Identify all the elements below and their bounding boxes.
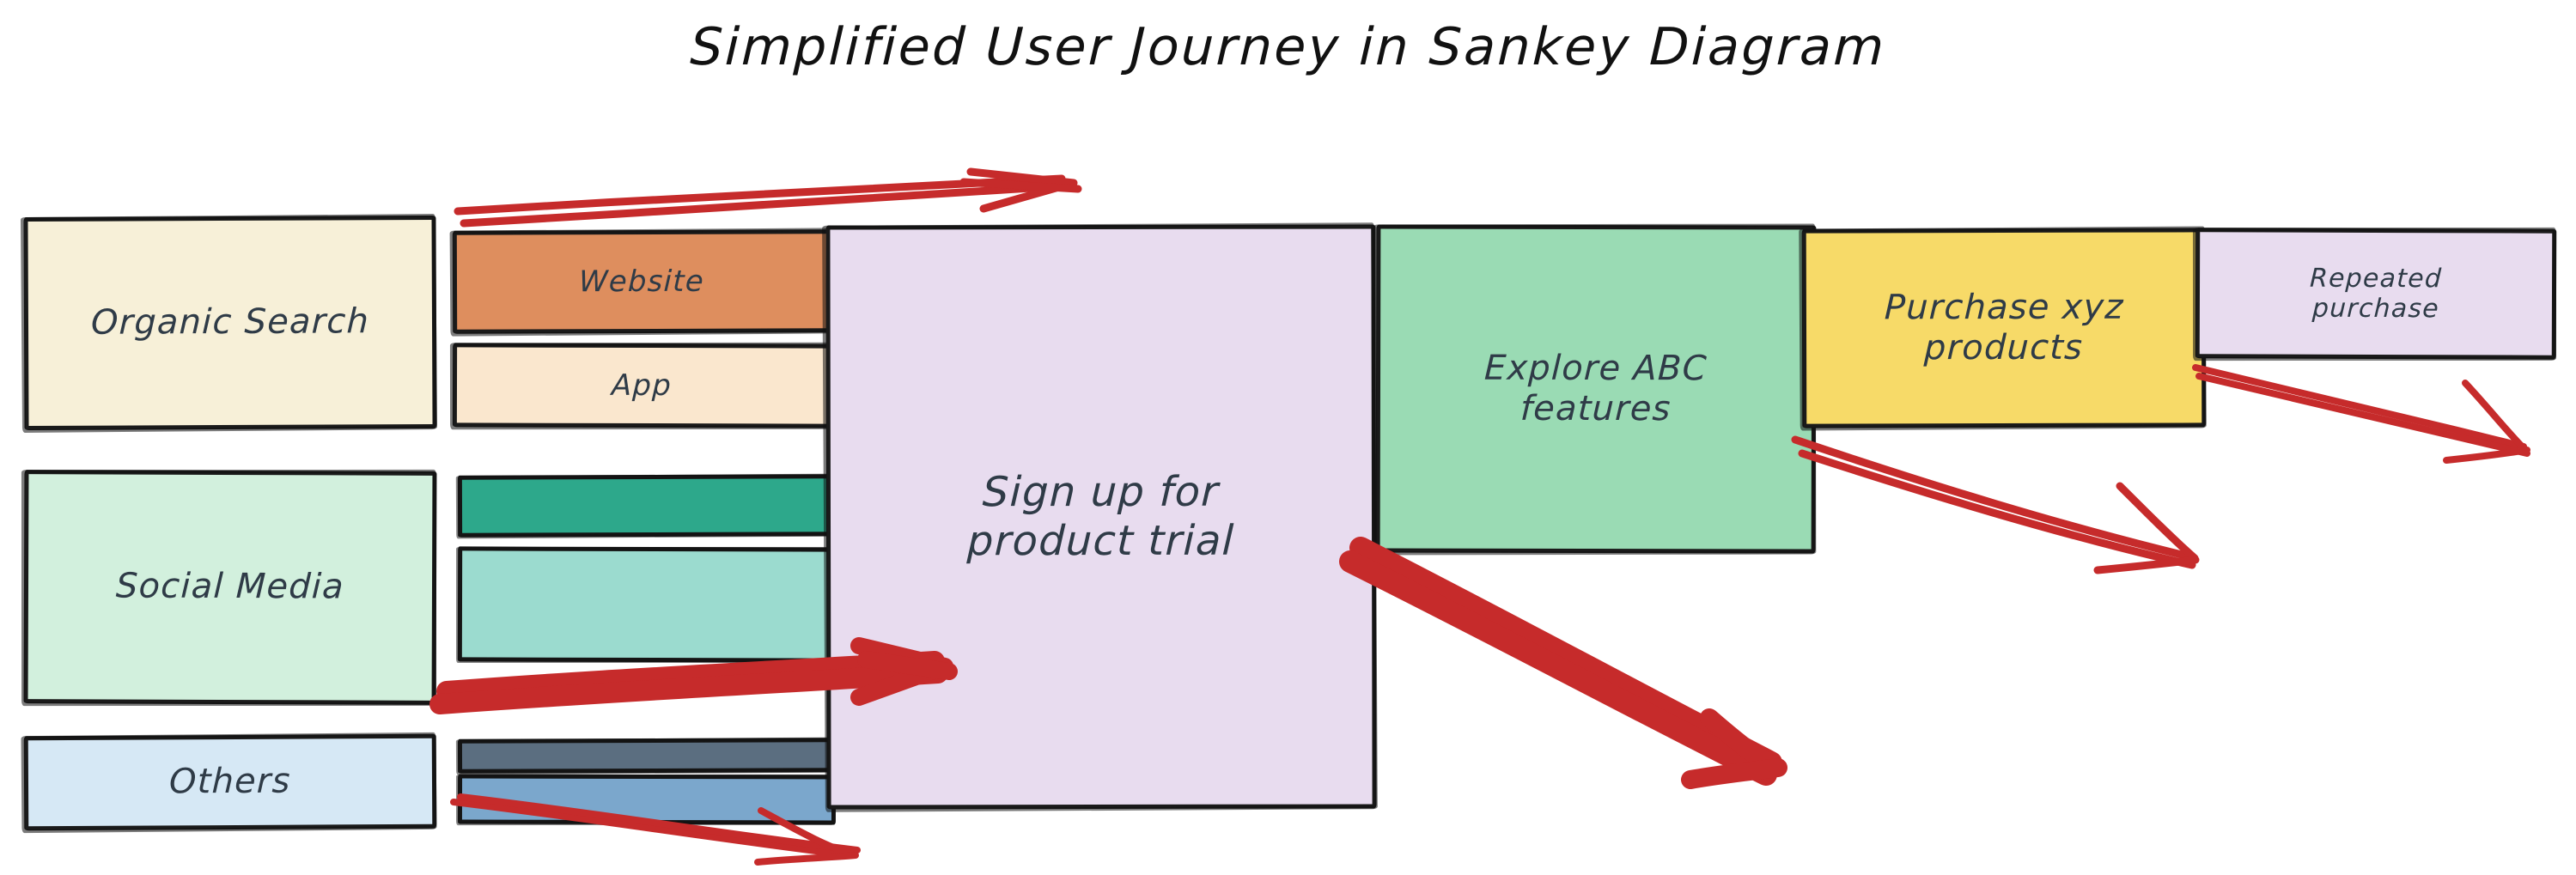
node-repeated-line-2: purchase (2301, 294, 2450, 325)
node-app-label: App (600, 368, 683, 403)
node-explore-line-2: features (1509, 389, 1682, 430)
arrow-organic-to-signup (458, 172, 1078, 223)
node-others-label: Others (158, 762, 301, 803)
node-repeated-line-1: Repeated (2299, 263, 2452, 294)
flow-bar-social-secondary[interactable] (458, 546, 836, 662)
arrow-signup-to-explore (1350, 548, 1771, 775)
node-purchase-xyz-products[interactable]: Purchase xyz products (1802, 228, 2207, 428)
node-organic-search-label: Organic Search (80, 302, 381, 344)
node-signup-line-1: Sign up for (971, 468, 1230, 517)
node-app[interactable]: App (453, 343, 831, 428)
node-organic-search[interactable]: Organic Search (23, 216, 436, 430)
node-explore-line-1: Explore ABC (1473, 349, 1718, 390)
arrow-purchase-to-repeated (2195, 368, 2527, 460)
page-title: Simplified User Journey in Sankey Diagra… (0, 17, 2576, 77)
node-repeated-purchase[interactable]: Repeated purchase (2195, 228, 2557, 359)
node-signup-for-product-trial[interactable]: Sign up for product trial (825, 224, 1376, 809)
flow-bar-social-primary[interactable] (458, 474, 836, 538)
arrow-signup-to-explore-head (1690, 718, 1778, 780)
node-purchase-line-2: products (1914, 328, 2095, 369)
arrow-explore-to-purchase (1795, 440, 2195, 570)
node-purchase-line-1: Purchase xyz (1873, 287, 2134, 328)
node-others[interactable]: Others (24, 734, 437, 831)
node-signup-line-2: product trial (957, 517, 1246, 566)
node-social-media-label: Social Media (105, 567, 356, 608)
flow-bar-others-secondary[interactable] (458, 775, 836, 825)
sankey-diagram-canvas: Simplified User Journey in Sankey Diagra… (0, 0, 2576, 875)
node-social-media[interactable]: Social Media (24, 470, 437, 705)
node-website-label: Website (568, 264, 715, 300)
node-website[interactable]: Website (453, 229, 831, 334)
node-explore-abc-features[interactable]: Explore ABC features (1376, 224, 1817, 553)
flow-bar-others-primary[interactable] (458, 738, 836, 774)
